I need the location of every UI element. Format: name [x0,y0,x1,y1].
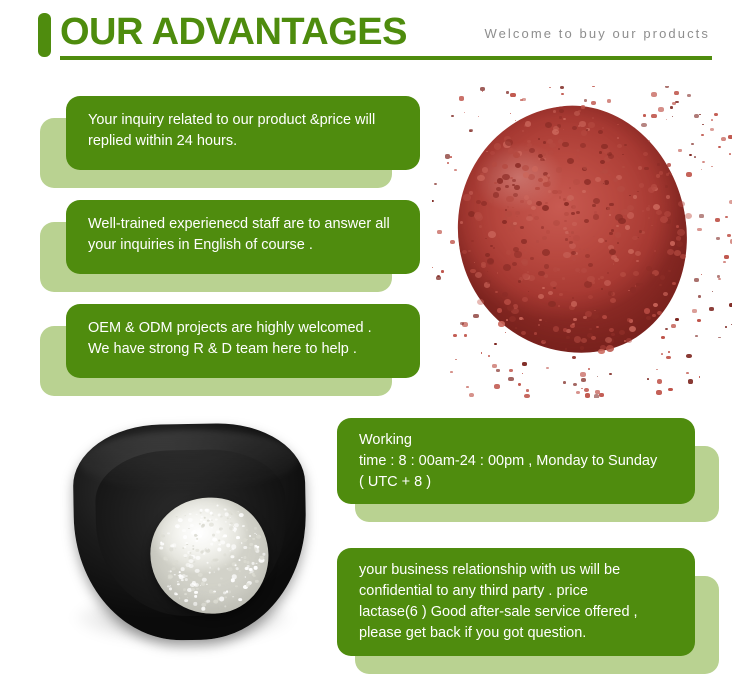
advantage-card-working-time: Working time : 8 : 00am-24 : 00pm , Mond… [337,418,719,522]
red-powder-photo [432,86,732,398]
advantage-card-trained-staff: Well-trained experienecd staff are to an… [40,200,420,292]
white-powder-photo [44,414,344,676]
card-text: your business relationship with us will … [359,560,689,644]
header-subtitle: Welcome to buy our products [484,26,710,41]
header-divider [60,56,712,60]
card-text: OEM & ODM projects are highly welcomed .… [88,318,404,360]
page-title: OUR ADVANTAGES [60,8,407,56]
accent-bar-icon [38,13,51,57]
card-text: Your inquiry related to our product &pri… [88,110,404,152]
advantage-card-confidentiality: your business relationship with us will … [337,548,719,674]
card-text: Working time : 8 : 00am-24 : 00pm , Mond… [359,430,689,493]
advantage-card-reply-time: Your inquiry related to our product &pri… [40,96,420,188]
advantage-card-oem-odm: OEM & ODM projects are highly welcomed .… [40,304,420,396]
page-header: OUR ADVANTAGES Welcome to buy our produc… [0,0,750,72]
card-text: Well-trained experienecd staff are to an… [88,214,404,256]
